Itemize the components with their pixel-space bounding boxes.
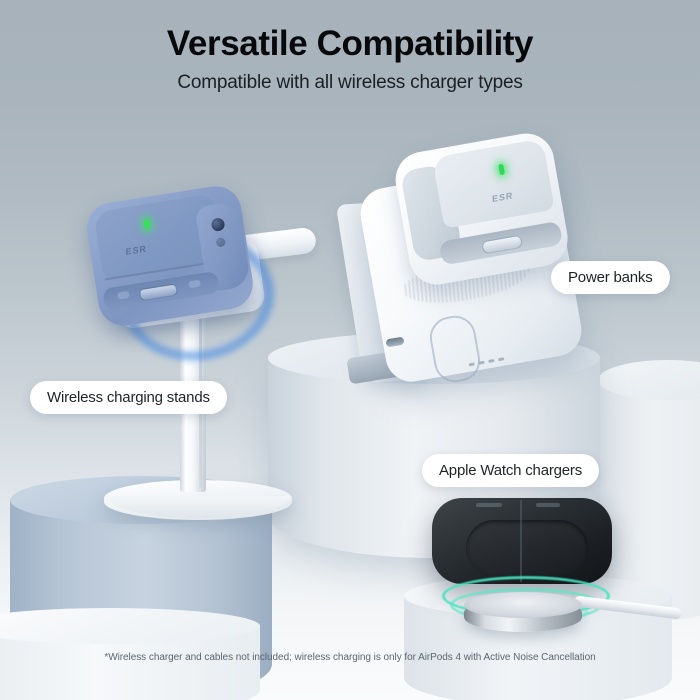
header: Versatile Compatibility Compatible with …	[0, 0, 700, 94]
magsafe-power-bank: ESR	[350, 148, 580, 378]
callout-power-banks[interactable]: Power banks	[551, 261, 670, 294]
apple-watch-charger-group	[428, 498, 678, 638]
charger-cable	[574, 595, 683, 619]
battery-led-1	[468, 362, 474, 366]
page-subtitle: Compatible with all wireless charger typ…	[0, 72, 700, 94]
callout-wireless-charging-stands[interactable]: Wireless charging stands	[30, 381, 227, 414]
page-title: Versatile Compatibility	[0, 26, 700, 63]
case-black-seam	[520, 500, 522, 582]
battery-led-3	[488, 359, 494, 363]
callout-apple-watch-chargers[interactable]: Apple Watch chargers	[422, 454, 599, 487]
product-marketing-scene: Versatile Compatibility Compatible with …	[0, 0, 700, 700]
case-black-top-detail-left	[476, 503, 502, 507]
podium-front	[0, 626, 260, 700]
battery-led-4	[498, 357, 504, 361]
airpods-case-white: ESR	[391, 129, 573, 293]
podium-right-top	[598, 360, 700, 400]
airpods-case-blue: ESR	[83, 183, 257, 332]
case-black-top-detail-right	[536, 503, 560, 507]
wireless-charging-stand: ESR	[96, 196, 326, 536]
footer-disclaimer: *Wireless charger and cables not include…	[0, 652, 700, 663]
battery-led-2	[478, 361, 484, 365]
airpods-case-black	[432, 498, 612, 584]
apple-watch-puck-surface	[464, 592, 582, 618]
case-black-inner-panel	[466, 520, 588, 576]
podium-front-top	[0, 608, 260, 644]
